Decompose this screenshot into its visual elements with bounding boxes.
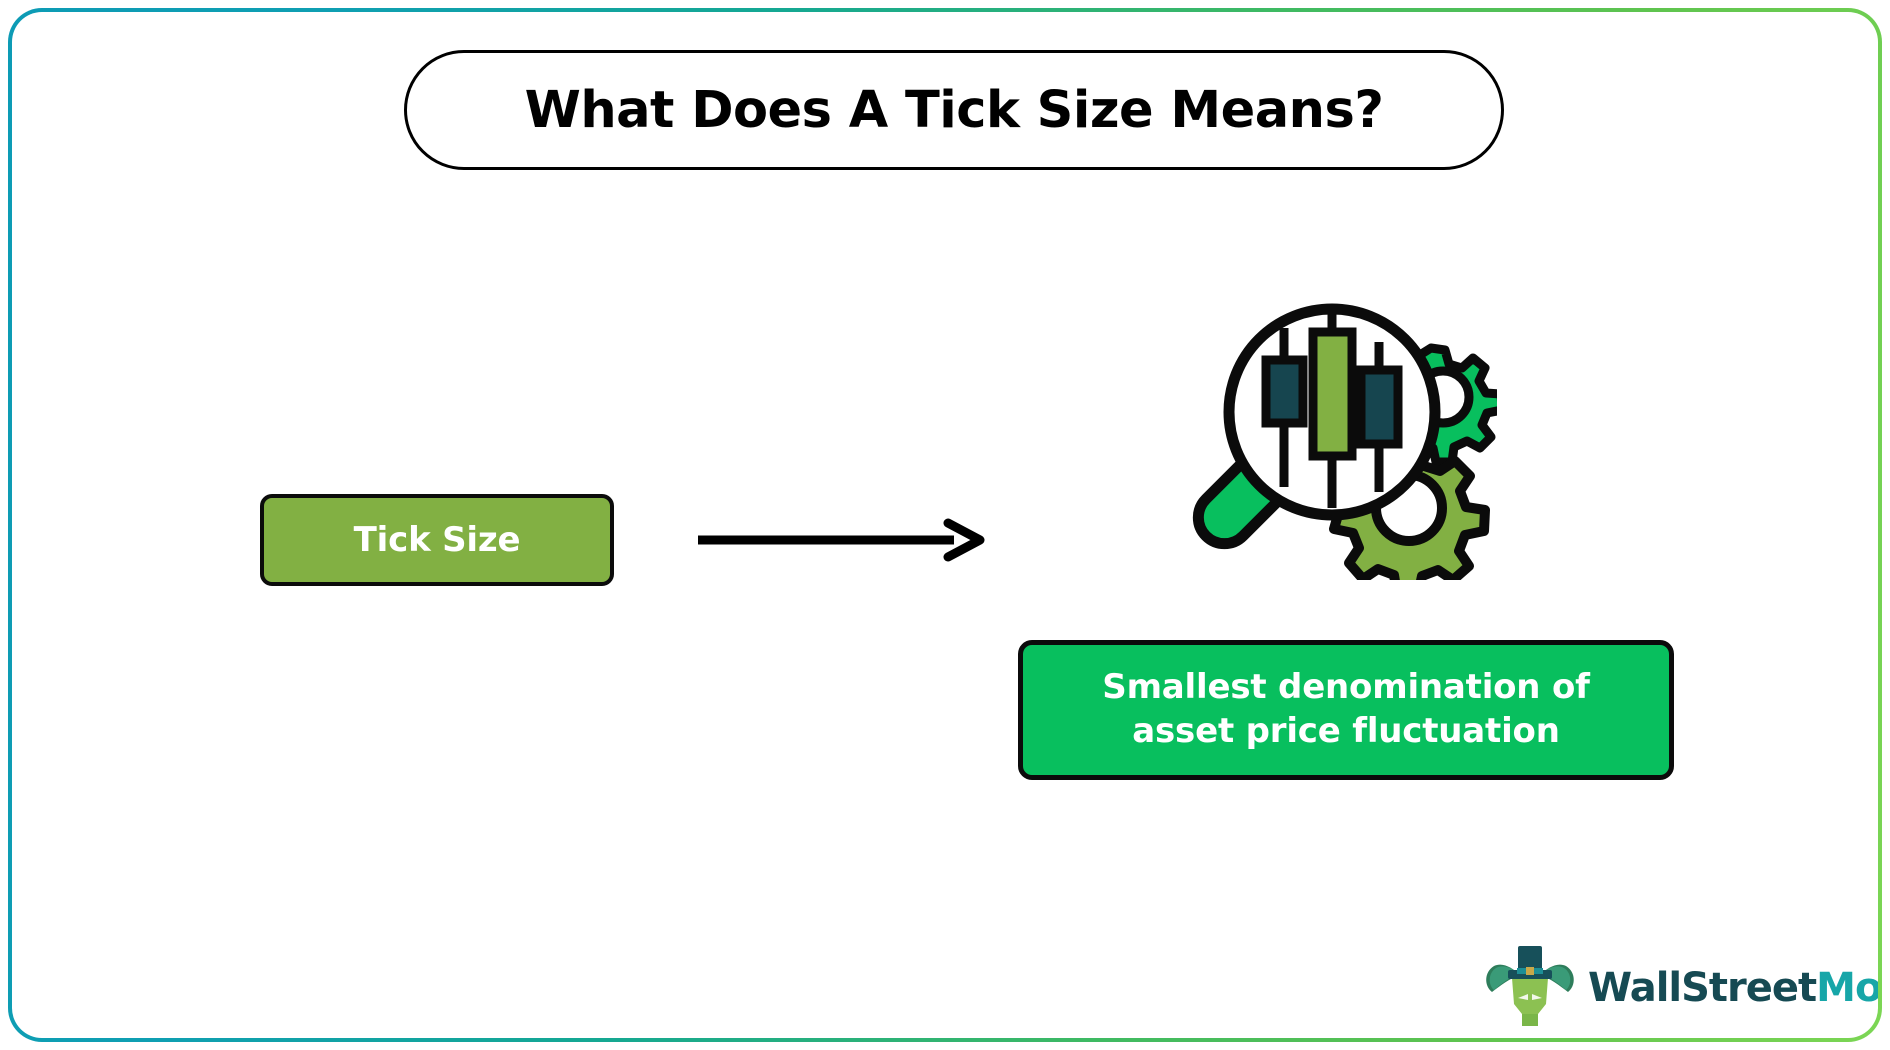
arrow-right-icon [696,517,986,563]
node-definition: Smallest denomination ofasset price fluc… [1018,640,1674,780]
node-tick-size-label: Tick Size [354,520,521,560]
gradient-border-frame: What Does A Tick Size Means? Tick Size S… [8,8,1882,1042]
node-definition-label: Smallest denomination ofasset price fluc… [1080,666,1611,753]
brand-wordmark: WallStreetMojo [1588,965,1878,1011]
infographic-canvas: What Does A Tick Size Means? Tick Size S… [0,0,1890,1050]
brand-logo: WallStreetMojo [1482,940,1872,1036]
title-pill: What Does A Tick Size Means? [404,50,1504,170]
node-definition-line1: Smallest denomination of [1102,667,1589,707]
bull-with-top-hat-icon [1482,942,1578,1034]
page-title: What Does A Tick Size Means? [525,81,1384,140]
frame-inner-surface: What Does A Tick Size Means? Tick Size S… [12,12,1878,1038]
brand-wordmark-part2: Mojo [1816,965,1878,1011]
magnifying-glass-candlestick-gears-icon [1167,280,1497,580]
node-definition-line2: asset price fluctuation [1132,711,1559,751]
node-tick-size: Tick Size [260,494,614,586]
brand-wordmark-part1: WallStreet [1588,965,1816,1011]
